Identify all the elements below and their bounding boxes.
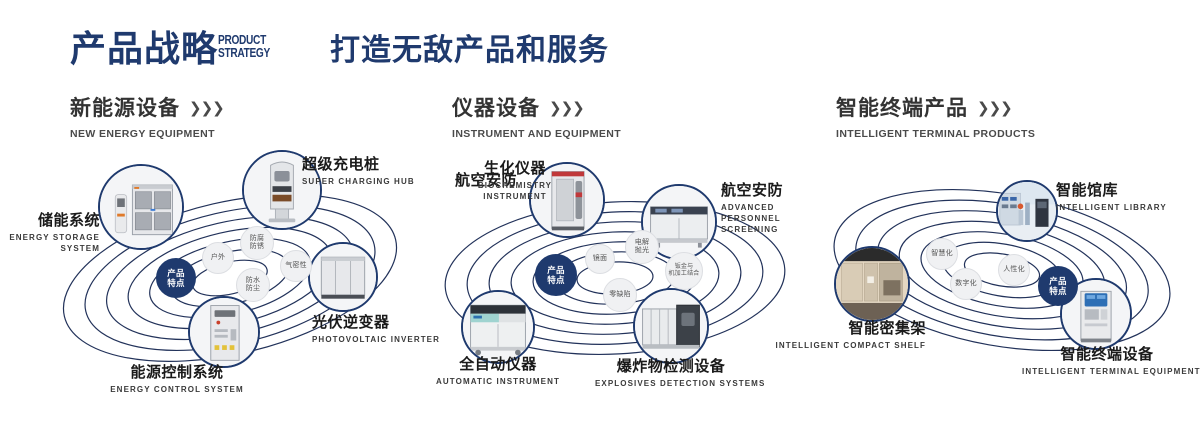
keyword-text: 镜面 — [593, 255, 607, 264]
node-bubble-energy-storage-system[interactable] — [98, 164, 184, 250]
intelligent-compact-shelf-photo — [836, 248, 908, 320]
keyword-bubble-outdoor[interactable]: 户外 — [202, 242, 234, 274]
node-label-en: INTELLIGENT TERMINAL EQUIPMENT — [1022, 366, 1192, 377]
photovoltaic-inverter-photo — [310, 244, 376, 310]
core-feature-bubble[interactable]: 产品 特点 — [156, 258, 196, 298]
node-bubble-photovoltaic-inverter[interactable] — [308, 242, 378, 312]
core-feature-line2: 特点 — [547, 275, 564, 285]
node-label-super-charging-hub: 超级充电桩 SUPER CHARGING HUB — [302, 156, 415, 187]
node-label-en: ADVANCED PERSONNEL SCREENING — [721, 202, 807, 235]
node-label-en: EXPLOSIVES DETECTION SYSTEMS — [595, 378, 747, 389]
keyword-bubble-smart[interactable]: 智慧化 — [926, 238, 958, 270]
keyword-line1: 钣金与 — [668, 264, 699, 272]
keyword-bubble-humanized[interactable]: 人性化 — [998, 254, 1030, 286]
section-title-cn-text: 智能终端产品 — [836, 97, 968, 120]
energy-storage-system-photo — [100, 166, 182, 248]
core-feature-text: 产品 特点 — [167, 268, 184, 288]
chevrons-right-icon: ❯❯❯ — [549, 96, 584, 122]
node-label-en: ENERGY CONTROL SYSTEM — [82, 384, 272, 395]
node-label-cn: 爆炸物检测设备 — [595, 358, 747, 376]
node-label-cn: 超级充电桩 — [302, 156, 415, 174]
keyword-line1: 人性化 — [1003, 266, 1025, 275]
keyword-line1: 气密性 — [285, 262, 307, 271]
page-subtitle: 打造无敌产品和服务 — [330, 33, 609, 69]
keyword-text: 钣金与 机加工结合 — [668, 264, 699, 279]
node-label-cn: 全自动仪器 — [433, 356, 563, 374]
node-label-cn: 智能终端设备 — [1022, 346, 1192, 364]
core-feature-line1: 产品 — [547, 265, 564, 275]
explosives-detection-photo — [635, 290, 707, 362]
keyword-bubble-airtightness[interactable]: 气密性 — [280, 250, 312, 282]
node-label-en: INTELLIGENT LIBRARY — [1056, 202, 1167, 213]
keyword-text: 数字化 — [955, 280, 977, 289]
node-label-intelligent-terminal-equipment: 智能终端设备 INTELLIGENT TERMINAL EQUIPMENT — [1022, 346, 1192, 377]
keyword-bubble-waterproof[interactable]: 防水 防尘 — [236, 268, 270, 302]
node-label-en: AUTOMATIC INSTRUMENT — [433, 376, 563, 387]
node-bubble-automatic-instrument[interactable] — [461, 290, 535, 364]
product-strategy-infographic: 产品战略 PRODUCT STRATEGY 打造无敌产品和服务 新能源设备❯❯❯… — [0, 0, 1200, 422]
node-label-energy-storage-system: 储能系统 ENERGY STORAGE SYSTEM — [0, 212, 100, 254]
keyword-bubble-electropolishing[interactable]: 电解 抛光 — [625, 230, 659, 264]
node-label-intelligent-compact-shelf: 智能密集架 INTELLIGENT COMPACT SHELF — [756, 320, 926, 351]
keyword-line2: 防锈 — [250, 243, 264, 252]
intelligent-library-photo — [998, 182, 1056, 240]
page-title: 产品战略 — [70, 28, 218, 70]
node-label-intelligent-library: 智能馆库 INTELLIGENT LIBRARY — [1056, 182, 1167, 213]
node-label-biochemistry-instrument: 生化仪器 BIOCHEMISTRY INSTRUMENT — [455, 160, 575, 202]
keyword-line1: 电解 — [635, 239, 649, 248]
keyword-line2: 防尘 — [246, 285, 260, 294]
section-title-en: INSTRUMENT AND EQUIPMENT — [452, 128, 621, 140]
keyword-line2: 机加工结合 — [668, 271, 699, 279]
node-label-cn: 储能系统 — [0, 212, 100, 230]
node-label-explosives-detection: 爆炸物检测设备 EXPLOSIVES DETECTION SYSTEMS — [595, 358, 747, 389]
node-label-photovoltaic-inverter: 光伏逆变器 PHOTOVOLTAIC INVERTER — [312, 314, 440, 345]
section-title-cn: 仪器设备❯❯❯ — [452, 96, 621, 122]
page-title-english: PRODUCT STRATEGY — [218, 33, 280, 59]
new-energy-cluster: 储能系统 ENERGY STORAGE SYSTEM 超级充电桩 SUPER C… — [40, 150, 420, 400]
node-label-personnel-screening: 航空安防 ADVANCED PERSONNEL SCREENING — [721, 182, 807, 235]
keyword-bubble-mirror-finish[interactable]: 镜面 — [585, 244, 615, 274]
chevrons-right-icon: ❯❯❯ — [189, 96, 224, 122]
core-feature-text: 产品 特点 — [1049, 276, 1066, 296]
keyword-line1: 防腐 — [250, 235, 264, 244]
page-title-english-line2: STRATEGY — [218, 46, 280, 59]
core-feature-line2: 特点 — [1049, 286, 1066, 296]
node-label-en: ENERGY STORAGE SYSTEM — [0, 232, 100, 254]
instrument-cluster: 航空安防 生化仪器 BIOCHEMISTRY INSTRUMENT 航空安防 A… — [425, 150, 805, 400]
node-label-en: SUPER CHARGING HUB — [302, 176, 415, 187]
node-label-en: PHOTOVOLTAIC INVERTER — [312, 334, 440, 345]
keyword-bubble-digital[interactable]: 数字化 — [950, 268, 982, 300]
node-bubble-intelligent-compact-shelf[interactable] — [834, 246, 910, 322]
keyword-text: 气密性 — [285, 262, 307, 271]
chevrons-right-icon: ❯❯❯ — [977, 96, 1012, 122]
node-label-cn: 航空安防 — [721, 182, 807, 200]
section-title-cn-text: 仪器设备 — [452, 97, 540, 120]
keyword-line1: 防水 — [246, 277, 260, 286]
keyword-text: 电解 抛光 — [635, 239, 649, 256]
node-label-cn: 智能密集架 — [756, 320, 926, 338]
keyword-line1: 户外 — [211, 254, 225, 263]
page-header: 产品战略 PRODUCT STRATEGY 打造无敌产品和服务 — [0, 0, 1200, 88]
keyword-line1: 镜面 — [593, 255, 607, 264]
keyword-line1: 零缺陷 — [609, 291, 631, 300]
keyword-line2: 抛光 — [635, 247, 649, 256]
node-label-automatic-instrument: 全自动仪器 AUTOMATIC INSTRUMENT — [433, 356, 563, 387]
core-feature-line1: 产品 — [167, 268, 184, 278]
keyword-text: 零缺陷 — [609, 291, 631, 300]
node-bubble-explosives-detection[interactable] — [633, 288, 709, 364]
keyword-text: 智慧化 — [931, 250, 953, 259]
core-feature-bubble[interactable]: 产品 特点 — [1038, 266, 1078, 306]
core-feature-line1: 产品 — [1049, 276, 1066, 286]
section-title-cn: 智能终端产品❯❯❯ — [836, 96, 1035, 122]
section-title-intelligent: 智能终端产品❯❯❯ INTELLIGENT TERMINAL PRODUCTS — [836, 96, 1035, 140]
node-label-energy-control-system: 能源控制系统 ENERGY CONTROL SYSTEM — [82, 364, 272, 395]
energy-control-system-photo — [190, 298, 258, 366]
automatic-instrument-photo — [463, 292, 533, 362]
keyword-line1: 智慧化 — [931, 250, 953, 259]
node-label-cn: 智能馆库 — [1056, 182, 1167, 200]
node-label-en: BIOCHEMISTRY INSTRUMENT — [455, 180, 575, 202]
node-label-cn: 能源控制系统 — [82, 364, 272, 382]
node-bubble-energy-control-system[interactable] — [188, 296, 260, 368]
section-title-en: INTELLIGENT TERMINAL PRODUCTS — [836, 128, 1035, 140]
section-title-cn-text: 新能源设备 — [70, 97, 180, 120]
section-title-new-energy: 新能源设备❯❯❯ NEW ENERGY EQUIPMENT — [70, 96, 224, 140]
core-feature-bubble[interactable]: 产品 特点 — [535, 254, 577, 296]
section-title-en: NEW ENERGY EQUIPMENT — [70, 128, 224, 140]
keyword-text: 户外 — [211, 254, 225, 263]
node-label-cn: 光伏逆变器 — [312, 314, 440, 332]
intelligent-cluster: 智能馆库 INTELLIGENT LIBRARY 智能密集架 INTELLIGE… — [810, 150, 1195, 400]
keyword-text: 人性化 — [1003, 266, 1025, 275]
core-feature-text: 产品 特点 — [547, 265, 564, 285]
keyword-bubble-sheet-metal-machining[interactable]: 钣金与 机加工结合 — [665, 252, 703, 290]
keyword-bubble-zero-defect[interactable]: 零缺陷 — [603, 278, 637, 312]
core-feature-line2: 特点 — [167, 278, 184, 288]
keyword-bubble-anticorrosion[interactable]: 防腐 防锈 — [240, 226, 274, 260]
node-label-en: INTELLIGENT COMPACT SHELF — [756, 340, 926, 351]
keyword-text: 防腐 防锈 — [250, 235, 264, 252]
keyword-text: 防水 防尘 — [246, 277, 260, 294]
section-title-cn: 新能源设备❯❯❯ — [70, 96, 224, 122]
node-bubble-intelligent-library[interactable] — [996, 180, 1058, 242]
node-label-cn: 生化仪器 — [455, 160, 575, 178]
section-title-instrument: 仪器设备❯❯❯ INSTRUMENT AND EQUIPMENT — [452, 96, 621, 140]
keyword-line1: 数字化 — [955, 280, 977, 289]
